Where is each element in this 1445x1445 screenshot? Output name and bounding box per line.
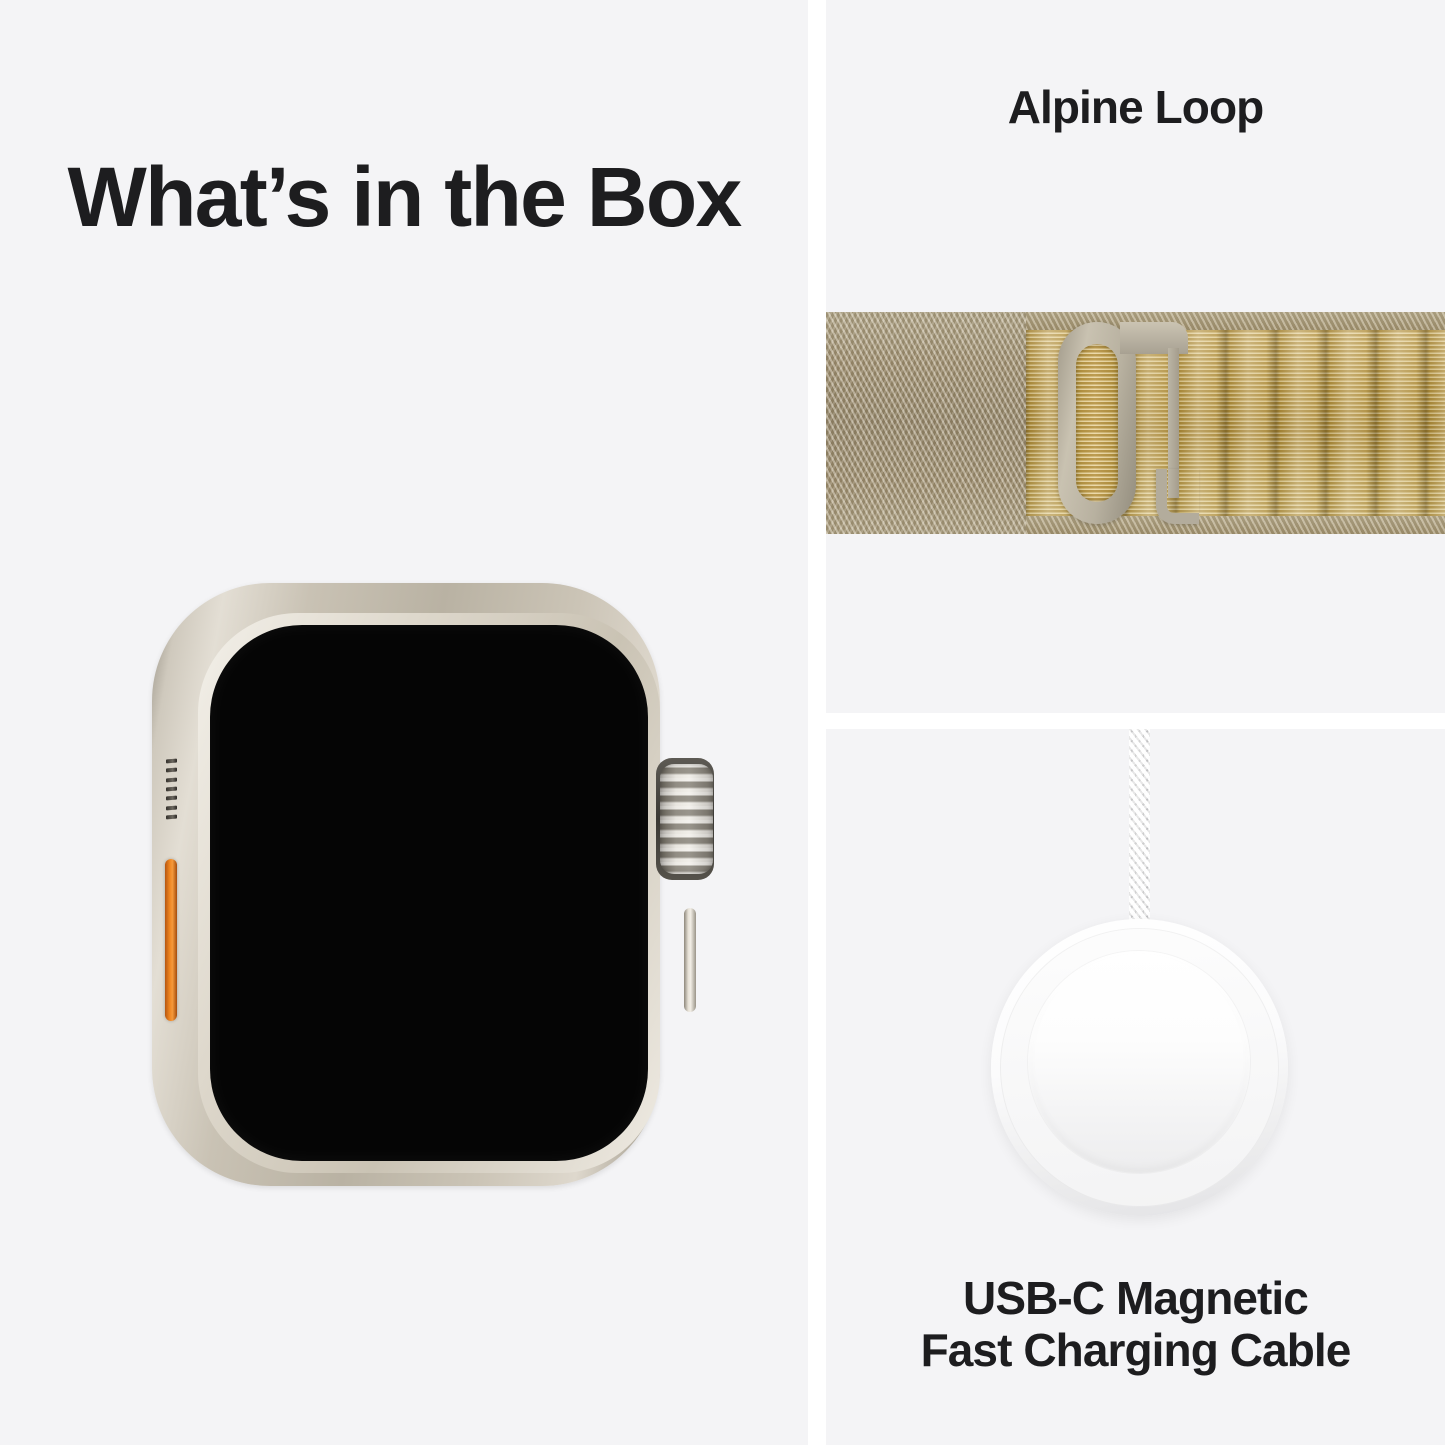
watch-display xyxy=(210,625,648,1161)
charging-cable-label: USB-C Magnetic Fast Charging Cable xyxy=(826,1273,1445,1377)
panel-whats-in-the-box: What’s in the Box xyxy=(0,0,808,1445)
apple-watch-ultra-image xyxy=(130,575,690,1195)
action-button[interactable] xyxy=(165,859,177,1021)
charging-cable-label-line-2: Fast Charging Cable xyxy=(921,1324,1351,1376)
band-g-hook-buckle xyxy=(1058,322,1198,524)
digital-crown[interactable] xyxy=(660,764,713,874)
panel-alpine-loop: Alpine Loop xyxy=(826,0,1445,713)
alpine-loop-band-image xyxy=(826,312,1445,534)
buckle-hook xyxy=(1156,346,1188,524)
charging-puck-face xyxy=(1028,951,1250,1173)
braided-cable xyxy=(1129,729,1150,934)
charging-puck xyxy=(991,919,1288,1216)
buckle-window xyxy=(1076,344,1118,502)
product-gallery: What’s in the Box Alpine Loop xyxy=(0,0,1445,1445)
side-button[interactable] xyxy=(684,908,696,1012)
speaker-grille-icon xyxy=(166,759,177,820)
alpine-loop-label: Alpine Loop xyxy=(826,82,1445,134)
panel-charging-cable: USB-C Magnetic Fast Charging Cable xyxy=(826,729,1445,1445)
page-title: What’s in the Box xyxy=(0,150,808,245)
charging-cable-label-line-1: USB-C Magnetic xyxy=(963,1272,1308,1324)
watch-case xyxy=(152,583,660,1186)
